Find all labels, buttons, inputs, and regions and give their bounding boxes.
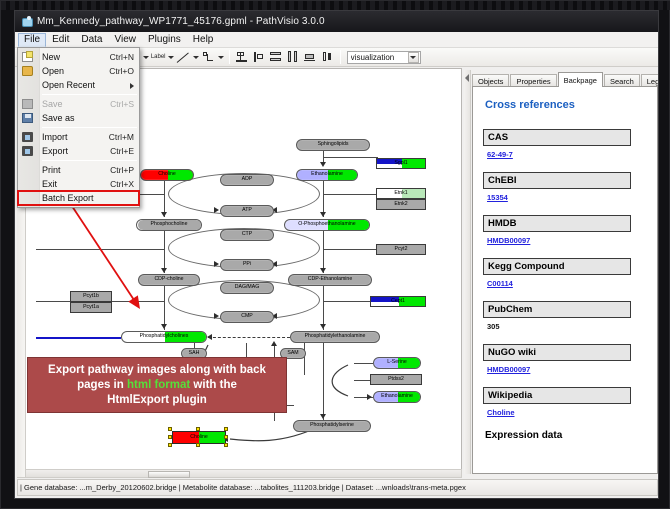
node-label: Pcyt1b	[83, 294, 99, 299]
menu-item-accelerator: Ctrl+M	[109, 132, 139, 142]
node-label: Choline	[190, 435, 208, 440]
distribute-vertical-button[interactable]	[269, 50, 284, 65]
node-label: Phosphatidylserine	[310, 423, 354, 428]
xref-link[interactable]: 62-49-7	[487, 150, 513, 159]
node-l-serine[interactable]: L-Serine	[373, 357, 421, 369]
edge	[36, 249, 164, 250]
xref-chebi: ChEBI 15354	[483, 172, 647, 203]
xref-name: ChEBI	[483, 172, 631, 189]
line-icon	[177, 51, 189, 63]
xref-link[interactable]: C00114	[487, 279, 513, 288]
menu-plugins[interactable]: Plugins	[142, 33, 187, 47]
pathvisio-icon	[21, 16, 32, 27]
node-label: Cept1	[391, 299, 405, 304]
menu-item-save[interactable]: Save Ctrl+S	[18, 97, 139, 111]
interaction-dropdown-arrow[interactable]	[217, 50, 225, 65]
arrowhead-icon	[320, 212, 326, 217]
node-phosphocholine[interactable]: Phosphocholine	[136, 219, 202, 231]
edge	[323, 231, 324, 273]
align-top-icon	[236, 51, 248, 63]
xref-link[interactable]: 15354	[487, 193, 508, 202]
open-folder-icon	[22, 66, 33, 76]
node-etnk2[interactable]: Etnk2	[376, 199, 426, 210]
side-panel: Objects Properties Backpage Search Legen…	[464, 68, 658, 477]
menu-item-open-recent[interactable]: Open Recent	[18, 78, 139, 92]
node-label: Ethanolamine	[381, 394, 413, 399]
menu-item-accelerator: Ctrl+E	[110, 146, 139, 156]
xref-name: HMDB	[483, 215, 631, 232]
menu-edit[interactable]: Edit	[46, 33, 75, 47]
edge	[323, 343, 324, 421]
node-label: SAH	[189, 351, 200, 356]
node-label: SAM	[287, 351, 298, 356]
node-ethanolamine-top[interactable]: Ethanolamine	[296, 169, 358, 181]
node-ptdss2[interactable]: Ptdss2	[370, 374, 422, 385]
node-o-phosphoethanolamine[interactable]: O-Phosphoethanolamine	[284, 219, 370, 231]
datanode-dropdown-arrow[interactable]	[142, 50, 150, 65]
menu-item-label: Exit	[42, 179, 110, 189]
xref-value-row: Choline	[487, 408, 647, 418]
menu-item-label: Batch Export	[42, 193, 139, 203]
xref-value-row: C00114	[487, 279, 647, 289]
node-label: ATP	[242, 208, 252, 213]
arrowhead-icon	[320, 414, 326, 419]
node-etnk1[interactable]: Etnk1	[376, 188, 426, 199]
menu-file[interactable]: File	[18, 33, 46, 47]
node-pcyt1a[interactable]: Pcyt1a	[70, 302, 112, 313]
label-icon: Label	[151, 54, 166, 60]
interaction-tool-button[interactable]	[201, 50, 216, 65]
node-label: Ptdss2	[388, 377, 404, 382]
xref-link[interactable]: Choline	[487, 408, 515, 417]
callout-line-3: HtmlExport plugin	[107, 393, 207, 408]
node-sphingolipids[interactable]: Sphingolipids	[296, 139, 370, 151]
menu-item-label: Save	[42, 99, 110, 109]
selection-handle[interactable]	[196, 427, 200, 431]
tab-backpage[interactable]: Backpage	[558, 72, 603, 87]
line-tool-button[interactable]	[176, 50, 191, 65]
status-text: | Gene database: ...m_Derby_20120602.bri…	[20, 483, 466, 492]
node-pcyt1b[interactable]: Pcyt1b	[70, 291, 112, 302]
node-label: CDP-Ethanolamine	[308, 277, 352, 282]
callout-line-2-post: with the	[190, 379, 237, 391]
xref-value-row: HMDB00097	[487, 236, 647, 246]
node-ethanolamine-bottom[interactable]: Ethanolamine	[373, 391, 421, 403]
menu-item-label: Import	[42, 132, 109, 142]
edge	[354, 363, 373, 364]
node-label: Phosphatidylcholines	[140, 334, 189, 339]
align-top-button[interactable]	[235, 50, 250, 65]
menu-item-accelerator: Ctrl+X	[110, 179, 139, 189]
selection-handle[interactable]	[224, 435, 228, 439]
callout-line-1: Export pathway images along with back	[48, 363, 266, 378]
menu-item-new[interactable]: New Ctrl+N	[18, 50, 139, 64]
menu-item-label: Save as	[42, 113, 134, 123]
selection-handle[interactable]	[224, 443, 228, 447]
pathvisio-application-window: Mm_Kennedy_pathway_WP1771_45176.gpml - P…	[14, 10, 659, 499]
node-label: Etnk1	[394, 191, 407, 196]
arrowhead-icon	[161, 212, 167, 217]
arrowhead-icon	[161, 268, 167, 273]
node-pcyt2[interactable]: Pcyt2	[376, 244, 426, 255]
chevron-right-icon	[130, 83, 134, 89]
status-bar: | Gene database: ...m_Derby_20120602.bri…	[17, 479, 658, 496]
xref-name: Wikipedia	[483, 387, 631, 404]
edge	[323, 301, 371, 302]
callout-line-2: pages in html format with the	[77, 378, 237, 393]
visualization-value: visualization	[351, 53, 408, 62]
menu-item-accelerator: Ctrl+S	[110, 99, 139, 109]
menu-item-label: Print	[42, 165, 110, 175]
xref-name: Kegg Compound	[483, 258, 631, 275]
node-label: ADP	[242, 177, 253, 182]
arrowhead-icon	[367, 394, 372, 400]
callout-highlight: html format	[127, 379, 190, 391]
distribute-vertical-icon	[270, 51, 282, 63]
edge	[164, 231, 165, 273]
set-common-width-button[interactable]	[303, 50, 318, 65]
selection-handle[interactable]	[224, 427, 228, 431]
distribute-horizontal-icon	[287, 51, 299, 63]
chevron-down-icon-2[interactable]	[408, 52, 419, 63]
xref-pubchem: PubChem 305	[483, 301, 647, 332]
node-label: CMP	[241, 314, 253, 319]
backpage-panel: Cross references CAS 62-49-7 ChEBI 15354…	[472, 86, 658, 474]
edge	[323, 194, 378, 195]
save-as-icon	[22, 113, 33, 123]
label-dropdown-arrow[interactable]	[167, 50, 175, 65]
distribute-horizontal-button[interactable]	[286, 50, 301, 65]
outer-frame: Mm_Kennedy_pathway_WP1771_45176.gpml - P…	[0, 0, 670, 509]
arrowhead-icon	[271, 341, 277, 346]
node-adp[interactable]: ADP	[220, 174, 274, 186]
arrowhead-icon	[320, 268, 326, 273]
node-phosphatidylcholines[interactable]: Phosphatidylcholines	[121, 331, 207, 343]
node-choline-top[interactable]: Choline	[140, 169, 194, 181]
node-label: DAG/MAG	[235, 285, 260, 290]
menu-item-export[interactable]: Export Ctrl+E	[18, 144, 139, 158]
file-menu-dropdown[interactable]: New Ctrl+N Open Ctrl+O Open Recent Save …	[17, 47, 140, 208]
menu-separator	[42, 94, 137, 95]
menu-item-accelerator: Ctrl+N	[110, 52, 139, 62]
toolbar-separator-3	[340, 50, 341, 64]
xref-plain-value: 305	[487, 322, 500, 331]
menu-separator	[42, 127, 137, 128]
import-icon	[22, 132, 33, 142]
desktop-top-strip	[1, 1, 670, 10]
expression-data-heading: Expression data	[485, 430, 647, 441]
window-title: Mm_Kennedy_pathway_WP1771_45176.gpml - P…	[37, 16, 325, 27]
edge	[304, 343, 305, 375]
annotation-callout: Export pathway images along with back pa…	[27, 357, 287, 413]
set-common-height-button[interactable]	[320, 50, 335, 65]
menu-item-exit[interactable]: Exit Ctrl+X	[18, 177, 139, 191]
node-label: Phosphocholine	[151, 222, 188, 227]
xref-value-row: 62-49-7	[487, 150, 647, 160]
new-file-icon	[22, 52, 33, 62]
line-dropdown-arrow[interactable]	[192, 50, 200, 65]
node-ctp[interactable]: CTP	[220, 229, 274, 241]
selection-handle[interactable]	[168, 443, 172, 447]
node-label: CTP	[242, 232, 252, 237]
menu-item-label: Export	[42, 146, 110, 156]
canvas-horizontal-scrollbar[interactable]	[17, 469, 462, 478]
panel-splitter[interactable]	[464, 70, 471, 474]
menu-item-print[interactable]: Print Ctrl+P	[18, 163, 139, 177]
xref-value-row: 15354	[487, 193, 647, 203]
menu-help[interactable]: Help	[187, 33, 220, 47]
node-label: Sgpl1	[394, 161, 407, 166]
node-cept1[interactable]: Cept1	[370, 296, 426, 307]
node-label: Pcyt2	[395, 247, 408, 252]
menu-item-open[interactable]: Open Ctrl+O	[18, 64, 139, 78]
cross-references-title: Cross references	[485, 99, 647, 111]
visualization-combobox[interactable]: visualization	[347, 51, 421, 64]
label-tool-button[interactable]: Label	[151, 50, 166, 65]
menu-item-label: Open	[42, 66, 109, 76]
elbow-connector-icon	[202, 51, 214, 63]
align-left-icon	[253, 51, 265, 63]
arrowhead-icon	[214, 313, 219, 319]
edge-highlight	[36, 337, 121, 339]
xref-wikipedia: Wikipedia Choline	[483, 387, 647, 418]
node-label: CDP-choline	[154, 277, 183, 282]
callout-line-2-pre: pages in	[77, 379, 127, 391]
node-label: Sphingolipids	[318, 142, 349, 147]
menu-bar[interactable]: File Edit Data View Plugins Help	[15, 32, 658, 48]
node-dag-mag[interactable]: DAG/MAG	[220, 282, 274, 294]
menu-data[interactable]: Data	[75, 33, 108, 47]
edge-dashed	[208, 337, 290, 338]
menu-item-import[interactable]: Import Ctrl+M	[18, 130, 139, 144]
arrowhead-icon	[320, 324, 326, 329]
xref-value-row: HMDB00097	[487, 365, 647, 375]
selection-handle[interactable]	[196, 443, 200, 447]
edge	[323, 249, 378, 250]
xref-link[interactable]: HMDB00097	[487, 365, 530, 374]
selection-handle[interactable]	[168, 435, 172, 439]
node-label: Phosphatidylethanolamine	[305, 334, 366, 339]
common-width-icon	[304, 51, 316, 63]
node-ppi[interactable]: PPi	[220, 259, 274, 271]
menu-item-save-as[interactable]: Save as	[18, 111, 139, 125]
node-cdp-ethanolamine[interactable]: CDP-Ethanolamine	[288, 274, 372, 286]
edge	[323, 157, 378, 158]
node-atp[interactable]: ATP	[220, 205, 274, 217]
node-phosphatidylethanolamine[interactable]: Phosphatidylethanolamine	[290, 331, 380, 343]
save-icon	[22, 99, 33, 109]
node-cmp[interactable]: CMP	[220, 311, 274, 323]
edge	[354, 380, 370, 381]
menu-separator	[42, 160, 137, 161]
node-label: O-Phosphoethanolamine	[298, 222, 355, 227]
xref-hmdb: HMDB HMDB00097	[483, 215, 647, 246]
xref-kegg-compound: Kegg Compound C00114	[483, 258, 647, 289]
arrowhead-icon	[161, 324, 167, 329]
menu-item-label: New	[42, 52, 110, 62]
xref-link[interactable]: HMDB00097	[487, 236, 530, 245]
node-label: Etnk2	[394, 202, 407, 207]
xref-value-row: 305	[487, 322, 647, 332]
arrowhead-icon	[207, 334, 212, 340]
node-label: Ethanolamine	[311, 172, 343, 177]
arrowhead-icon	[214, 207, 219, 213]
node-label: L-Serine	[387, 360, 407, 365]
node-phosphatidylserine[interactable]: Phosphatidylserine	[293, 420, 371, 432]
title-bar: Mm_Kennedy_pathway_WP1771_45176.gpml - P…	[15, 11, 658, 32]
xref-name: CAS	[483, 129, 631, 146]
xref-name: PubChem	[483, 301, 631, 318]
node-label: Choline	[158, 172, 176, 177]
export-icon	[22, 146, 33, 156]
menu-view[interactable]: View	[108, 33, 142, 47]
toolbar-separator-2	[229, 50, 230, 64]
arrowhead-icon	[320, 162, 326, 167]
xref-name: NuGO wiki	[483, 344, 631, 361]
xref-cas: CAS 62-49-7	[483, 129, 647, 160]
side-panel-tabs[interactable]: Objects Properties Backpage Search Legen…	[472, 72, 658, 87]
menu-item-batch-export[interactable]: Batch Export	[18, 191, 139, 205]
node-label: Pcyt1a	[83, 305, 99, 310]
menu-item-accelerator: Ctrl+P	[110, 165, 139, 175]
menu-item-accelerator: Ctrl+O	[109, 66, 139, 76]
node-label: PPi	[243, 262, 251, 267]
common-height-icon	[321, 51, 333, 63]
node-cdp-choline[interactable]: CDP-choline	[138, 274, 200, 286]
arrowhead-icon	[214, 261, 219, 267]
xref-nugo-wiki: NuGO wiki HMDB00097	[483, 344, 647, 375]
menu-item-label: Open Recent	[42, 80, 139, 90]
node-sgpl1[interactable]: Sgpl1	[376, 158, 426, 169]
selection-handle[interactable]	[168, 427, 172, 431]
align-left-button[interactable]	[252, 50, 267, 65]
